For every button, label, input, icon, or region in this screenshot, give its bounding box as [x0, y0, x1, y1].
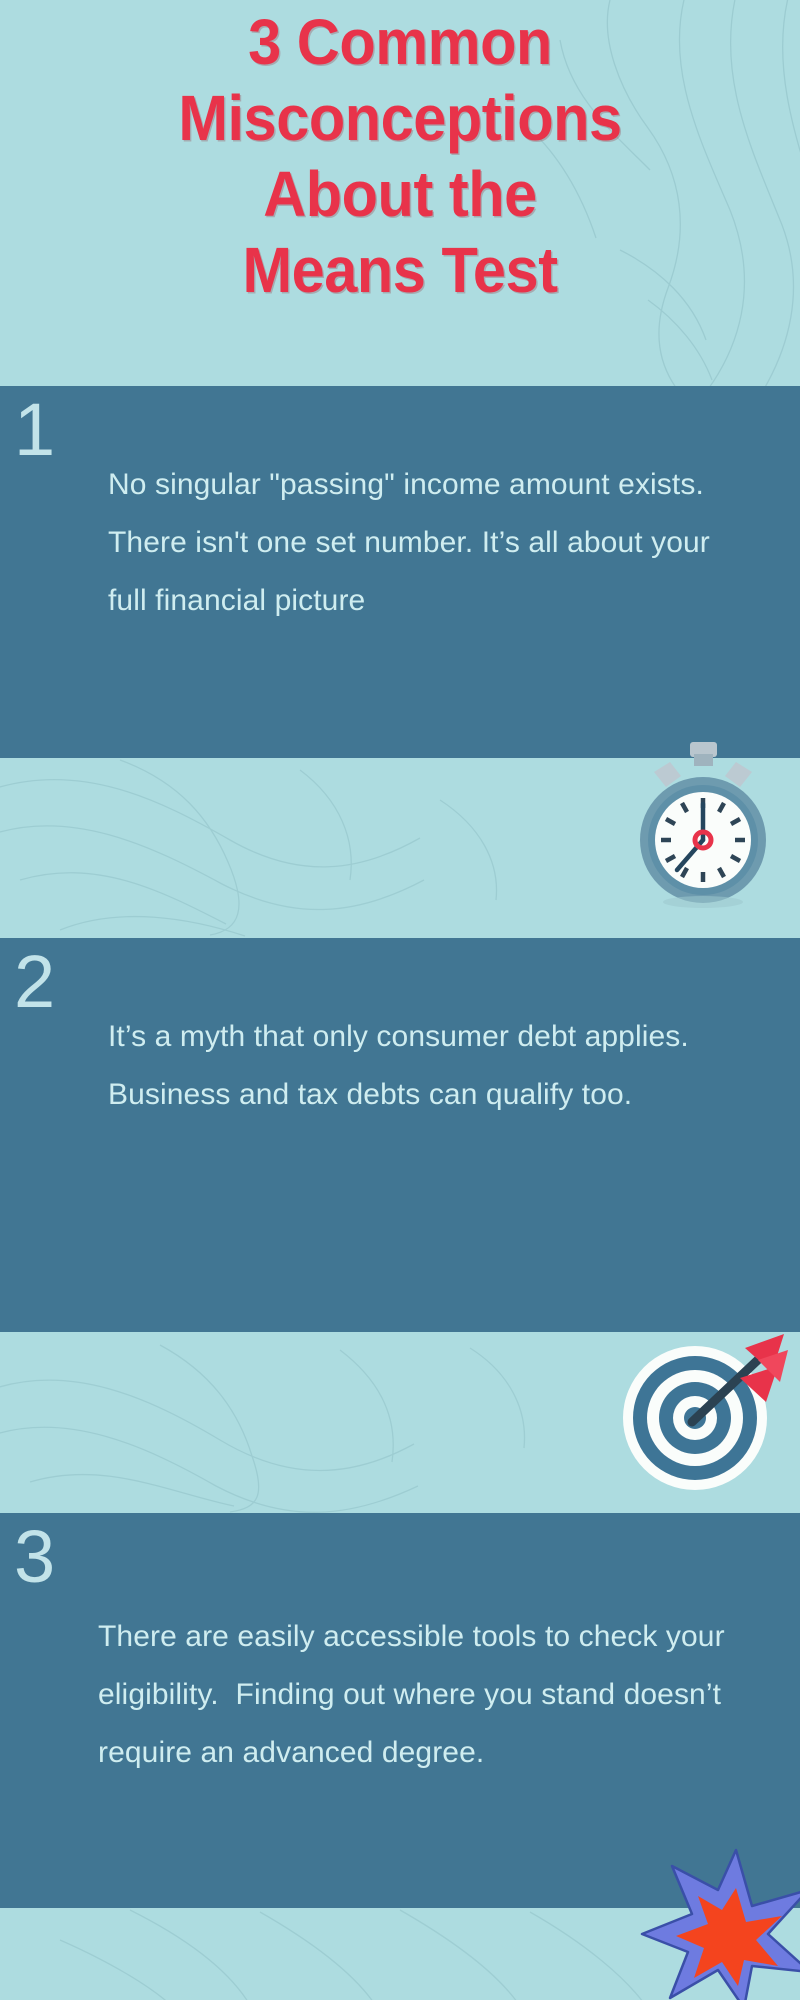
- panel-number-3: 3: [14, 1517, 55, 1597]
- panel-number-1: 1: [14, 390, 55, 470]
- starburst-icon: [640, 1848, 800, 2000]
- panel-text-1: No singular "passing" income amount exis…: [108, 456, 748, 630]
- panel-text-2: It’s a myth that only consumer debt appl…: [108, 1008, 748, 1124]
- title-line-3: About the: [28, 156, 772, 232]
- misconception-panel-2: 2 It’s a myth that only consumer debt ap…: [0, 938, 800, 1332]
- panel-number-2: 2: [14, 942, 55, 1022]
- target-icon: [612, 1326, 790, 1498]
- title-line-1: 3 Common: [28, 4, 772, 80]
- infographic-canvas: 3 Common Misconceptions About the Means …: [0, 0, 800, 2000]
- title-line-4: Means Test: [28, 232, 772, 308]
- stopwatch-icon: [628, 742, 778, 910]
- page-title: 3 Common Misconceptions About the Means …: [0, 0, 800, 386]
- misconception-panel-1: 1 No singular "passing" income amount ex…: [0, 386, 800, 758]
- panel-text-3: There are easily accessible tools to che…: [98, 1608, 738, 1782]
- title-line-2: Misconceptions: [28, 80, 772, 156]
